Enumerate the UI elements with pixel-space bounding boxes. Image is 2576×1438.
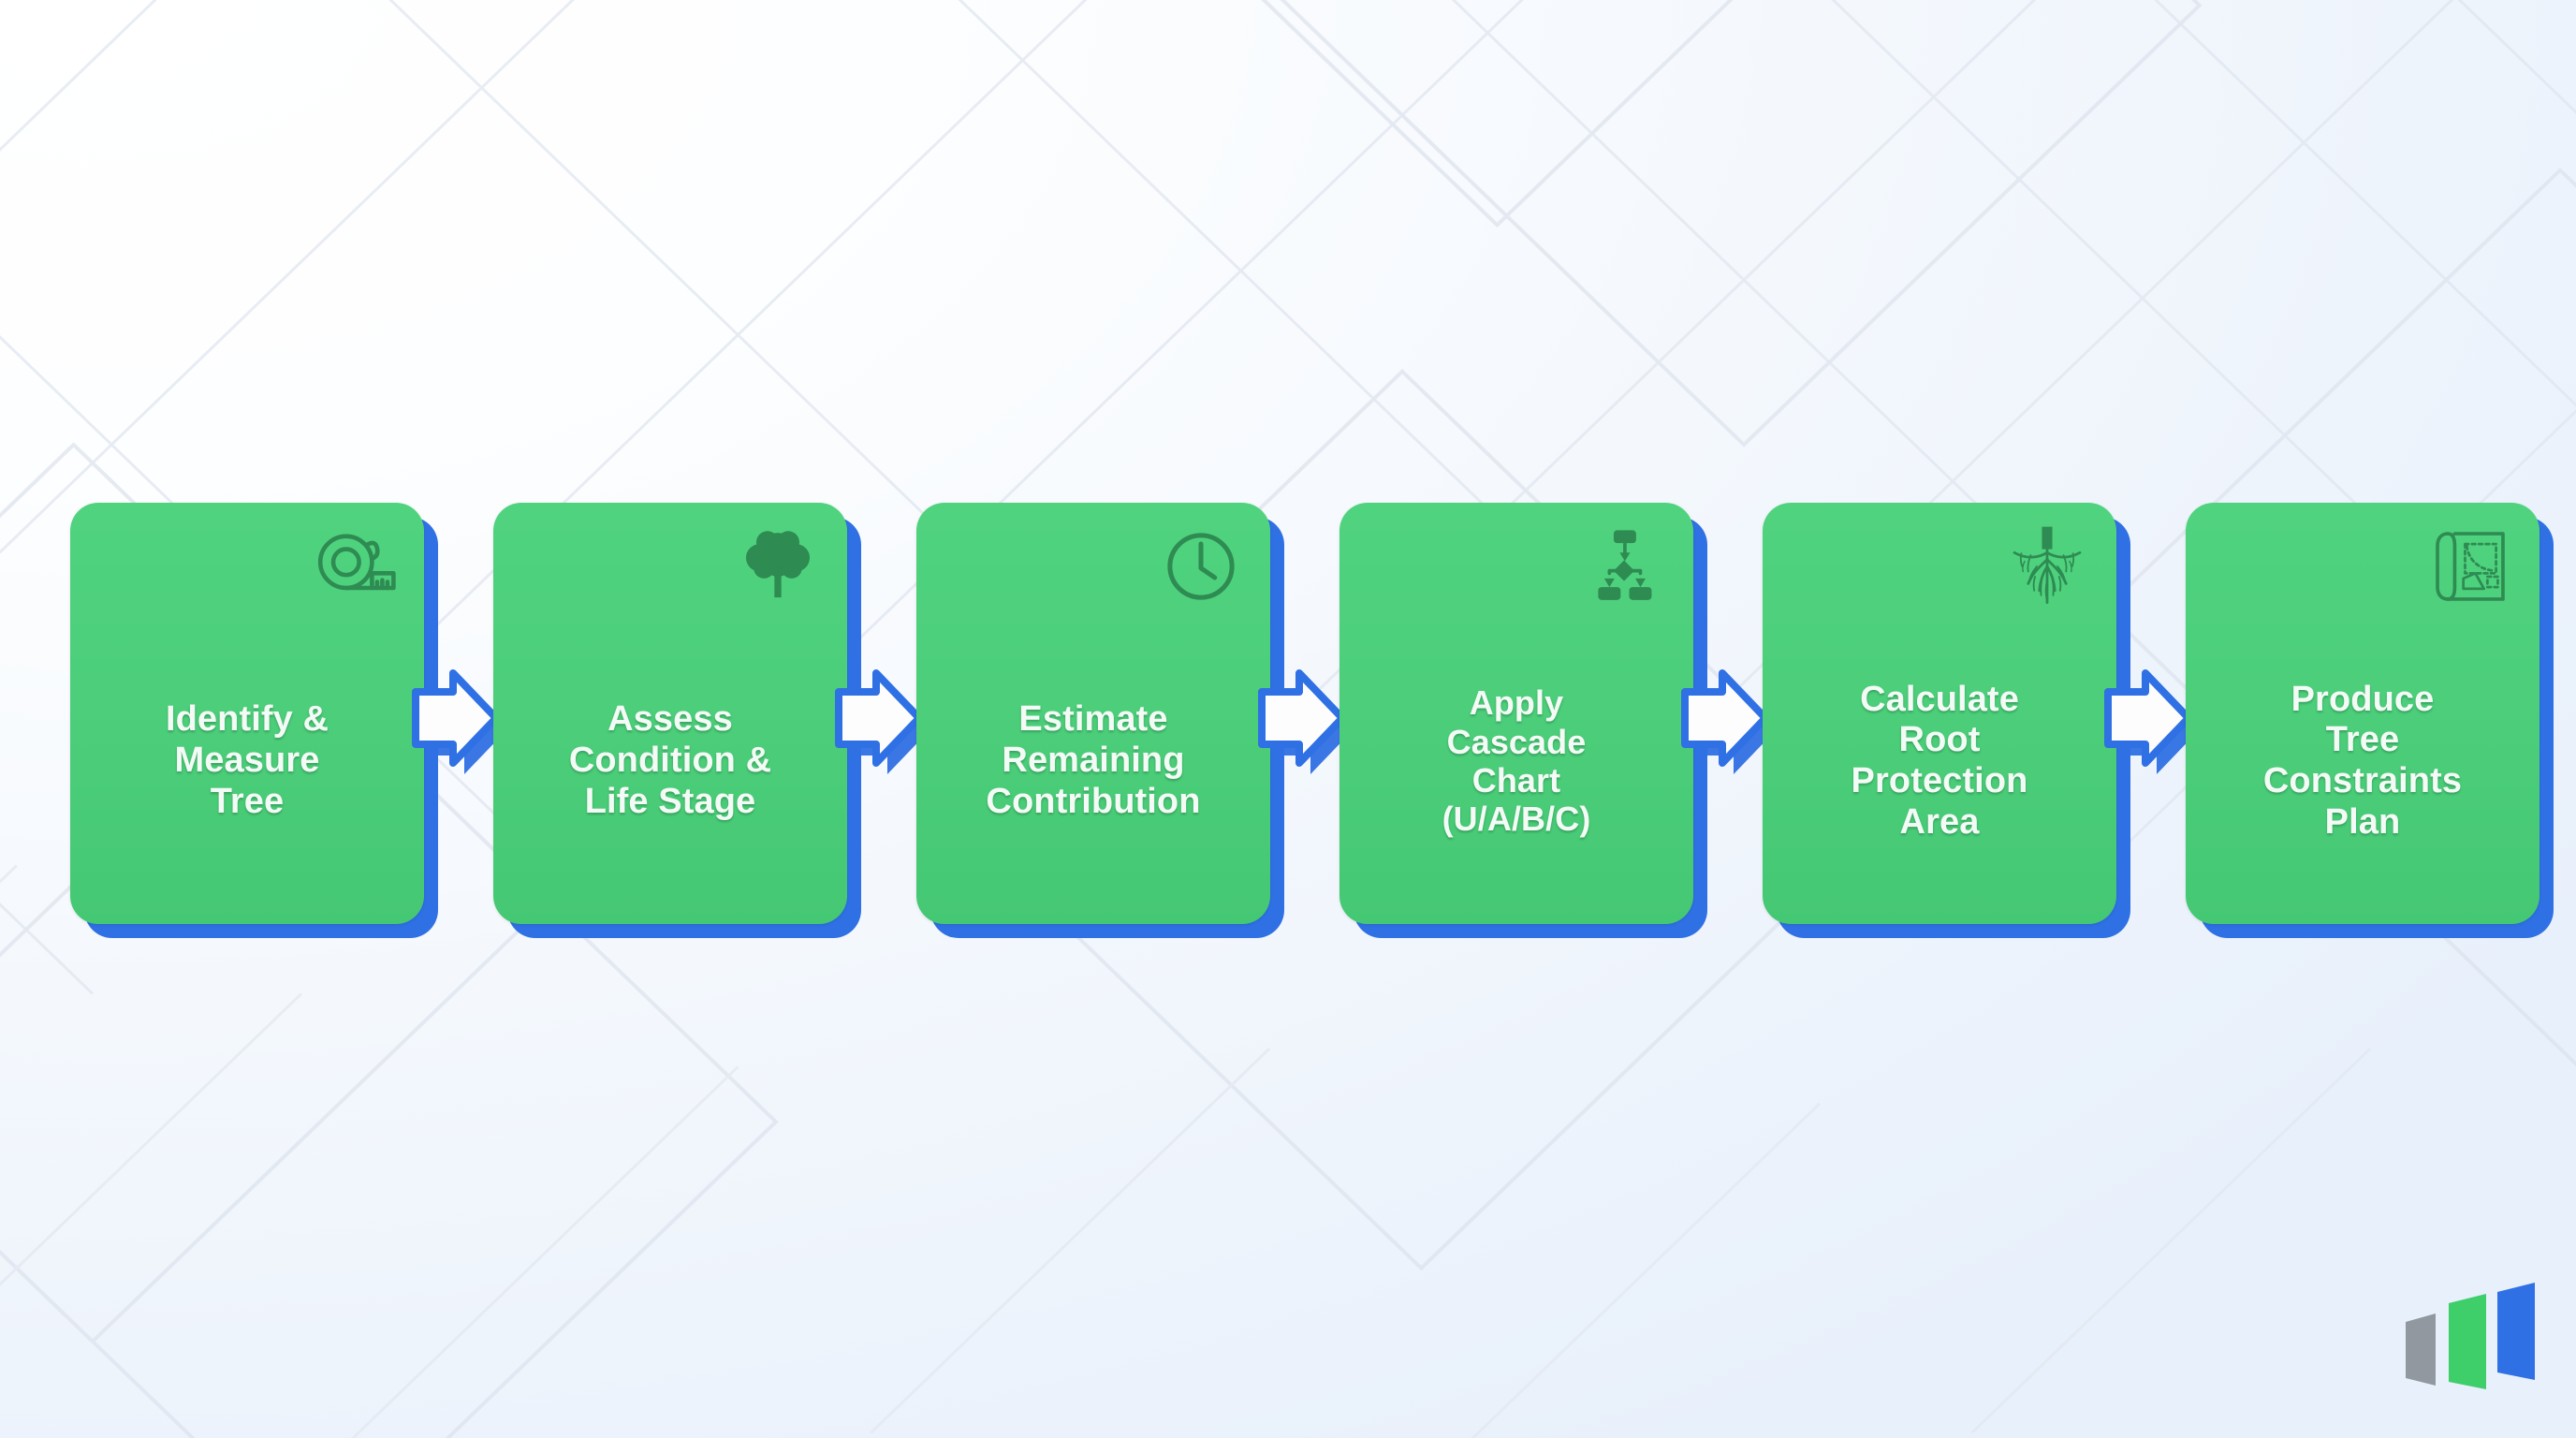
- arrow-right-icon-5: [2089, 653, 2194, 767]
- step-card[interactable]: Identify & Measure Tree: [70, 503, 424, 924]
- step-label: Calculate Root Protection Area: [1776, 613, 2103, 909]
- step-label: Estimate Remaining Contribution: [929, 613, 1257, 909]
- process-step-2[interactable]: Assess Condition & Life Stage: [493, 503, 847, 924]
- process-step-3[interactable]: Estimate Remaining Contribution: [916, 503, 1270, 924]
- step-label: Identify & Measure Tree: [83, 613, 411, 909]
- arrow-right-icon-2: [820, 653, 925, 767]
- step-label: Apply Cascade Chart (U/A/B/C): [1353, 613, 1680, 909]
- arrow-right-icon-4: [1666, 653, 1771, 767]
- roots-icon: [2004, 523, 2090, 609]
- step-card[interactable]: Assess Condition & Life Stage: [493, 503, 847, 924]
- process-step-6[interactable]: Produce Tree Constraints Plan: [2186, 503, 2539, 924]
- process-step-1[interactable]: Identify & Measure Tree: [70, 503, 424, 924]
- step-card[interactable]: Produce Tree Constraints Plan: [2186, 503, 2539, 924]
- clock-icon: [1158, 523, 1244, 609]
- tape-measure-icon: [312, 523, 398, 609]
- flowchart-icon: [1581, 523, 1667, 609]
- step-card[interactable]: Calculate Root Protection Area: [1763, 503, 2116, 924]
- step-label: Assess Condition & Life Stage: [506, 613, 834, 909]
- step-label: Produce Tree Constraints Plan: [2199, 613, 2526, 909]
- blueprint-plan-icon: [2427, 523, 2513, 609]
- arrow-right-icon-1: [397, 653, 502, 767]
- three-bars-logo-icon: [2400, 1269, 2540, 1393]
- step-card[interactable]: Apply Cascade Chart (U/A/B/C): [1339, 503, 1693, 924]
- arrow-right-icon-3: [1243, 653, 1348, 767]
- diagram-canvas: Identify & Measure Tree: [0, 0, 2576, 1438]
- process-step-5[interactable]: Calculate Root Protection Area: [1763, 503, 2116, 924]
- process-step-4[interactable]: Apply Cascade Chart (U/A/B/C): [1339, 503, 1693, 924]
- step-card[interactable]: Estimate Remaining Contribution: [916, 503, 1270, 924]
- process-flow: Identify & Measure Tree: [0, 0, 2576, 1438]
- tree-icon: [735, 523, 821, 609]
